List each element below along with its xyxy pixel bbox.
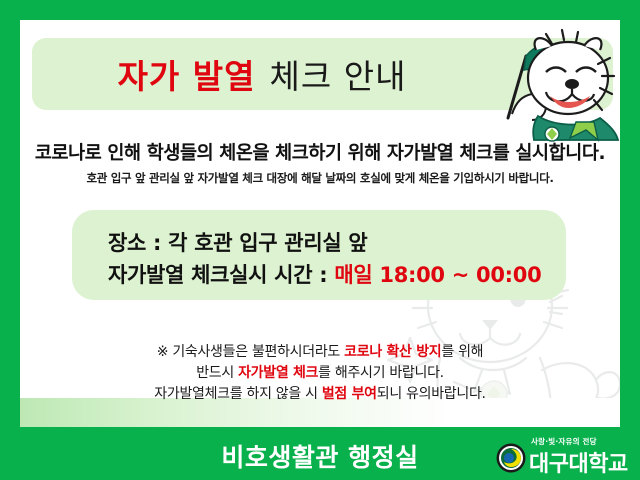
notice-line-1-highlight: 코로나 확산 방지 xyxy=(344,344,441,360)
footer-bar: 비호생활관 행정실 사랑·빛·자유의 전당 대구대학교 xyxy=(0,427,640,480)
notice-line-2: 반드시 자가발열 체크를 해주시기 바랍니다. xyxy=(20,363,620,384)
notice-line-2-suffix: 를 해주시기 바랍니다. xyxy=(318,365,444,381)
university-name: 대구대학교 xyxy=(529,446,628,478)
poster-canvas: 자가 발열 체크 안내 xyxy=(20,20,620,427)
page-title: 자가 발열 체크 안내 xyxy=(32,38,492,110)
poster-root: 자가 발열 체크 안내 xyxy=(0,0,640,480)
university-emblem-icon xyxy=(496,443,526,473)
info-panel: 장소 : 각 호관 입구 관리실 앞 자가발열 체크실시 시간 : 매일 18:… xyxy=(72,210,566,300)
notice-line-1-prefix: ※ 기숙사생들은 불편하시더라도 xyxy=(157,344,344,360)
subhead-text: 호관 입구 앞 관리실 앞 자가발열 체크 대장에 해달 날짜의 호실에 맞게 … xyxy=(20,170,620,186)
notice-line-2-prefix: 반드시 xyxy=(196,365,238,381)
notice-line-1-suffix: 를 위해 xyxy=(441,344,483,360)
notice-line-3-prefix: 자가발열체크를 하지 않을 시 xyxy=(154,386,322,402)
notice-line-1: ※ 기숙사생들은 불편하시더라도 코로나 확산 방지를 위해 xyxy=(20,342,620,363)
page-title-highlight: 자가 발열 xyxy=(118,50,256,98)
info-time-label: 자가발열 체크실시 시간 : xyxy=(108,263,334,287)
notice-line-3-suffix: 되니 유의바랍니다. xyxy=(377,386,486,402)
notice-line-3: 자가발열체크를 하지 않을 시 벌점 부여되니 유의바랍니다. xyxy=(20,384,620,405)
university-logo: 사랑·빛·자유의 전당 대구대학교 xyxy=(496,435,632,475)
notice-block: ※ 기숙사생들은 불편하시더라도 코로나 확산 방지를 위해 반드시 자가발열 … xyxy=(20,342,620,405)
page-title-rest: 체크 안내 xyxy=(270,50,407,98)
info-location-line: 장소 : 각 호관 입구 관리실 앞 xyxy=(108,227,367,257)
notice-line-3-highlight: 벌점 부여 xyxy=(322,386,377,402)
headline-text: 코로나로 인해 학생들의 체온을 체크하기 위해 자가발열 체크를 실시합니다. xyxy=(20,139,620,165)
notice-line-2-highlight: 자가발열 체크 xyxy=(238,365,318,381)
mascot-tiger-with-flag-icon xyxy=(482,22,620,142)
info-time-value: 매일 18:00 ~ 00:00 xyxy=(334,263,541,287)
info-time-line: 자가발열 체크실시 시간 : 매일 18:00 ~ 00:00 xyxy=(108,259,541,289)
